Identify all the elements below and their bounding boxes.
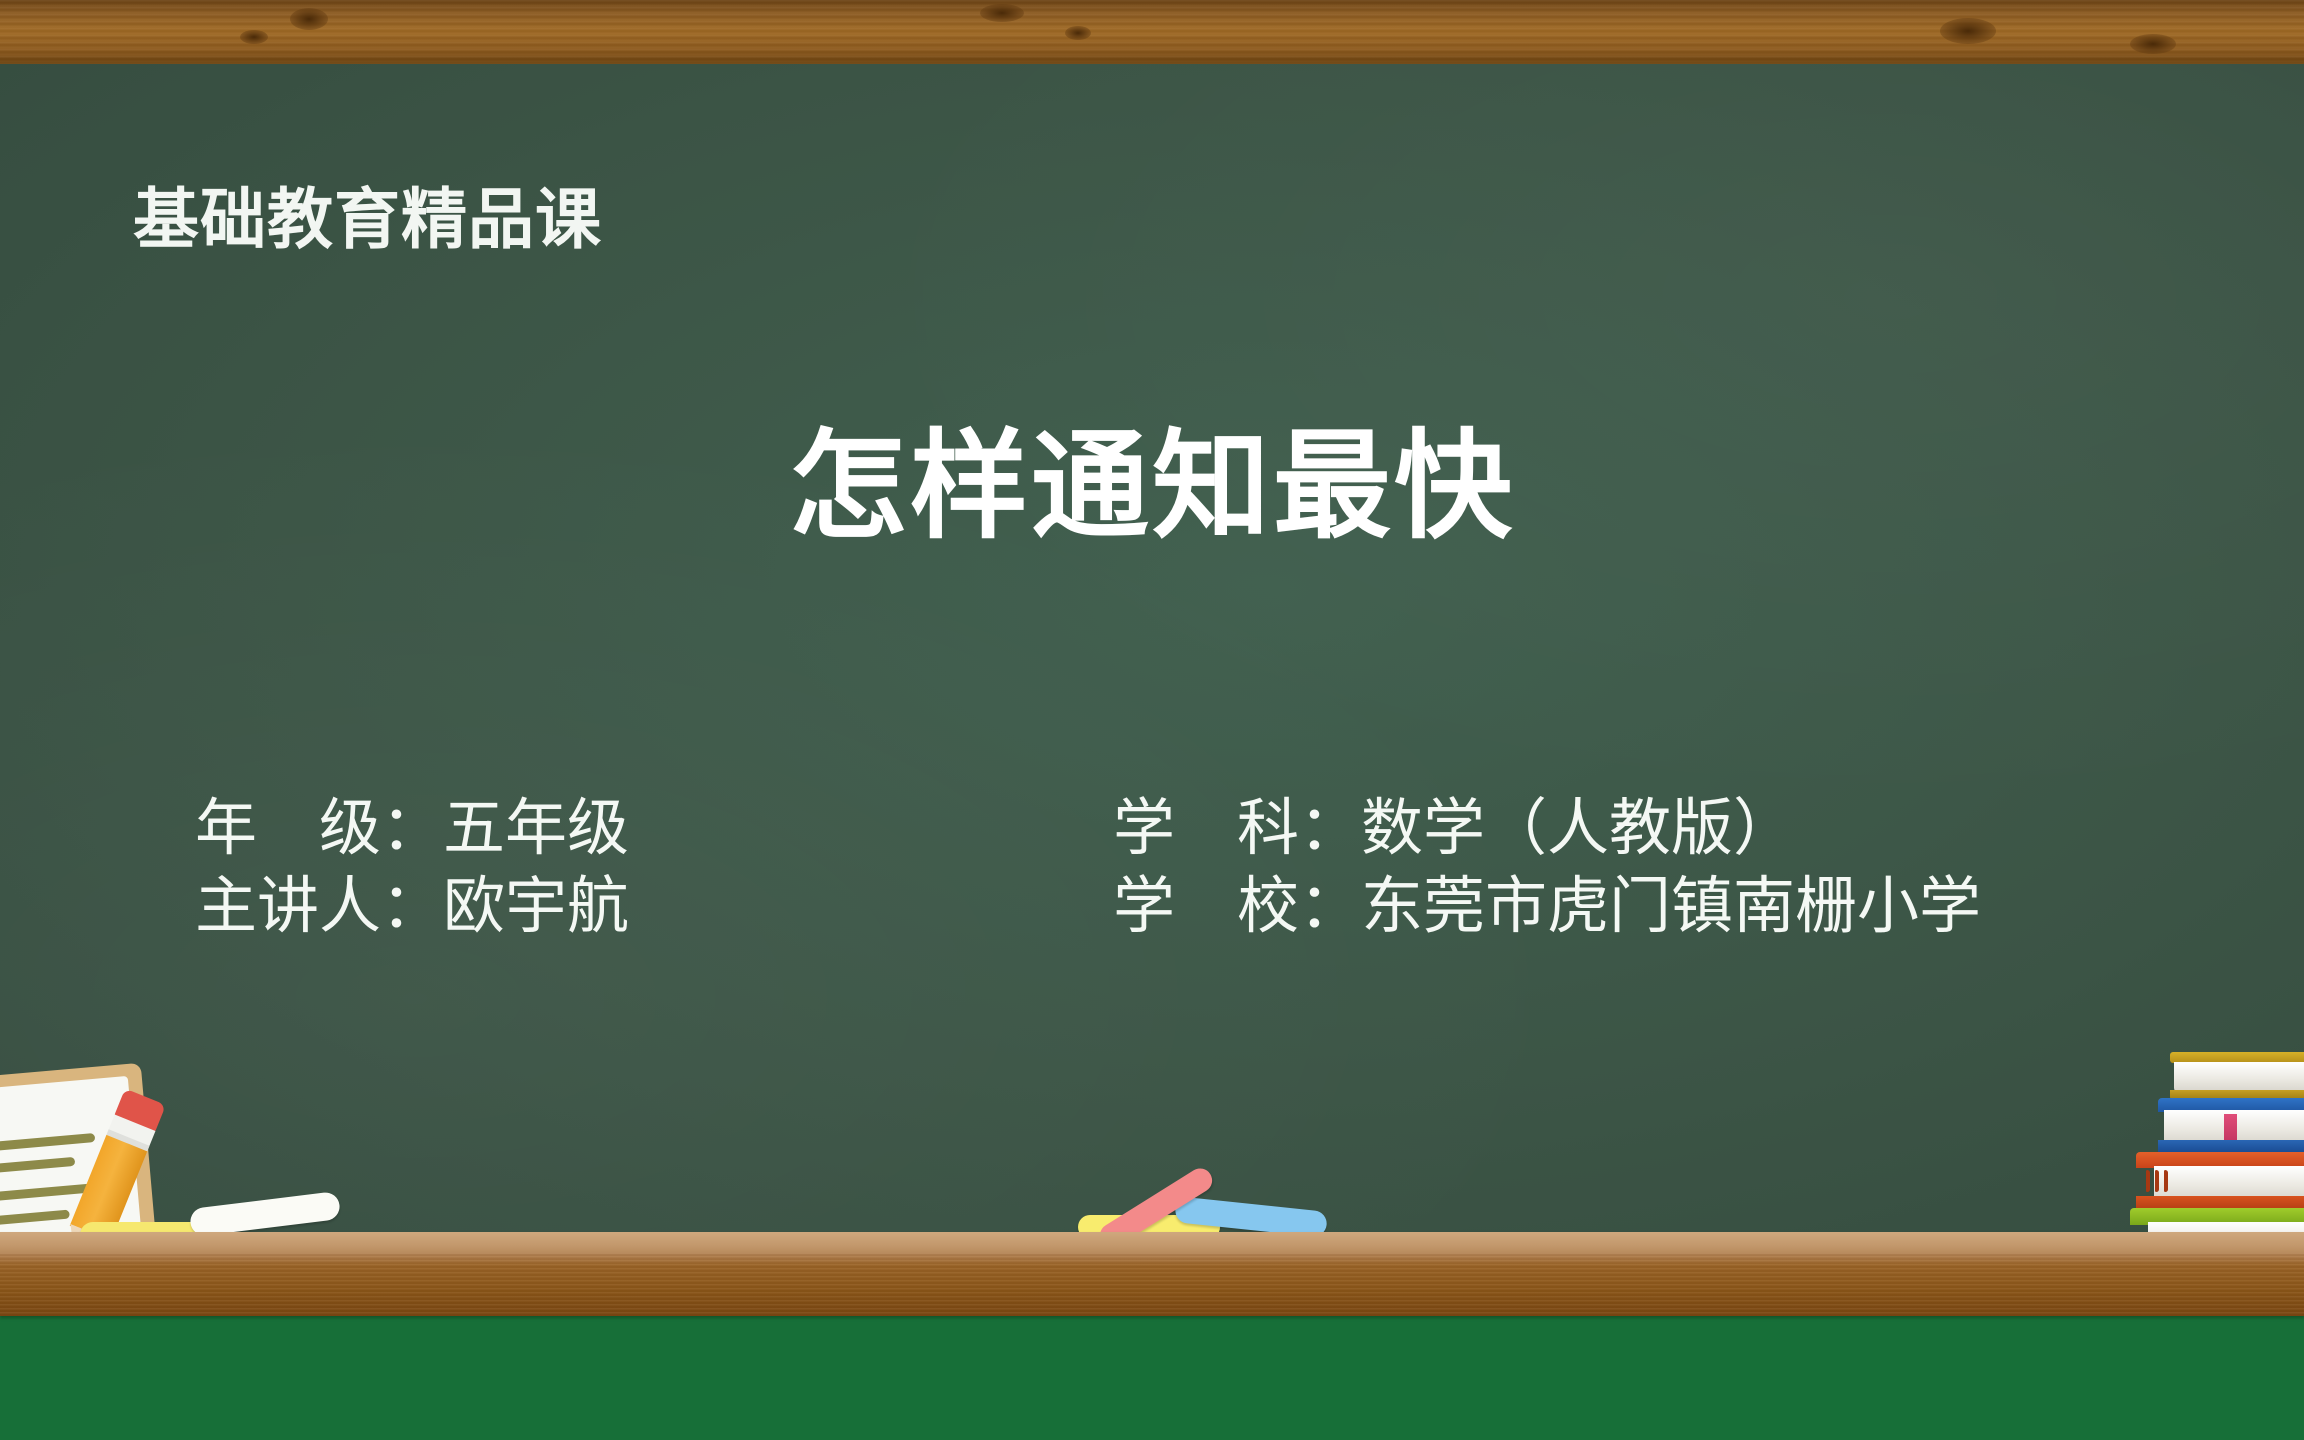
presenter-label: 主讲人： — [195, 868, 443, 946]
presenter-value: 欧宇航 — [443, 868, 629, 946]
book-spine-rib — [2146, 1170, 2150, 1192]
book-spine-rib — [2164, 1170, 2168, 1192]
wood-knot — [1940, 18, 1996, 44]
metadata-row-school: 学 校：东莞市虎门镇南栅小学 — [1113, 868, 1981, 946]
wood-knot — [290, 8, 328, 30]
wood-knot — [240, 30, 268, 44]
wood-frame-top — [0, 0, 2304, 64]
subject-value: 数学（人教版） — [1361, 790, 1795, 868]
wood-knot — [980, 4, 1024, 22]
lesson-metadata: 年 级：五年级 主讲人：欧宇航 学 科：数学（人教版） 学 校：东莞市虎门镇南栅… — [0, 790, 2304, 1010]
subject-label: 学 科： — [1113, 790, 1361, 868]
school-value: 东莞市虎门镇南栅小学 — [1361, 868, 1981, 946]
paper-line — [0, 1210, 70, 1226]
bottom-green-band — [0, 1316, 2304, 1440]
metadata-column-right: 学 科：数学（人教版） 学 校：东莞市虎门镇南栅小学 — [1113, 790, 1981, 946]
grade-value: 五年级 — [443, 790, 629, 868]
book-orange-pages — [2154, 1166, 2304, 1200]
book-gold-pages — [2174, 1062, 2304, 1092]
metadata-row-grade: 年 级：五年级 — [195, 790, 629, 868]
metadata-column-left: 年 级：五年级 主讲人：欧宇航 — [195, 790, 629, 946]
paper-line — [0, 1157, 75, 1174]
grade-label: 年 级： — [195, 790, 443, 868]
program-label: 基础教育精品课 — [133, 186, 602, 252]
presentation-slide: 基础教育精品课 怎样通知最快 年 级：五年级 主讲人：欧宇航 学 科：数学（人教… — [0, 0, 2304, 1440]
wood-ledge-lip — [0, 1232, 2304, 1254]
wood-knot — [1065, 26, 1091, 40]
book-spine-rib — [2155, 1170, 2159, 1192]
lesson-title: 怎样通知最快 — [0, 420, 2304, 556]
book-stack-icon — [2164, 1052, 2304, 1242]
metadata-row-presenter: 主讲人：欧宇航 — [195, 868, 629, 946]
metadata-row-subject: 学 科：数学（人教版） — [1113, 790, 1981, 868]
school-label: 学 校： — [1113, 868, 1361, 946]
paper-line — [0, 1133, 95, 1152]
wood-knot — [2130, 34, 2176, 54]
